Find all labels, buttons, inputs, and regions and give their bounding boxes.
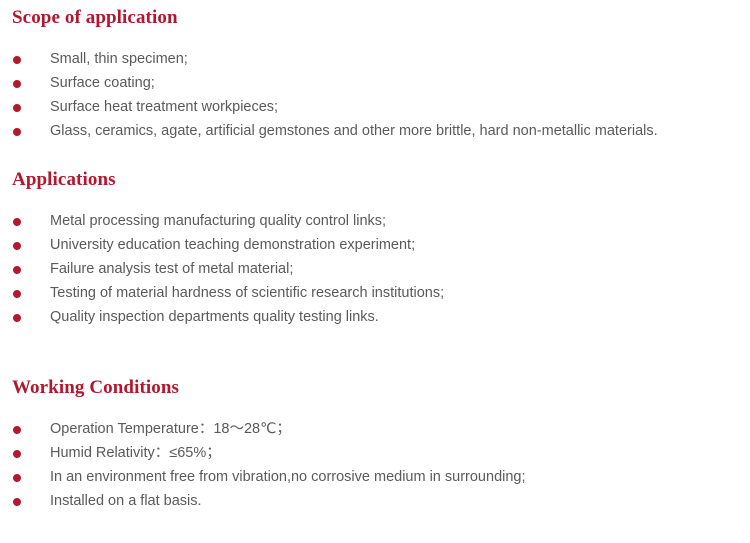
bullet-dot-icon	[13, 242, 21, 250]
bullet-dot-icon	[13, 104, 21, 112]
list-item: Glass, ceramics, agate, artificial gemst…	[0, 119, 658, 143]
list-item-label: Metal processing manufacturing quality c…	[50, 209, 386, 233]
list-item-label: Quality inspection departments quality t…	[50, 305, 379, 329]
list-item: Testing of material hardness of scientif…	[0, 281, 444, 305]
list-item-label: Small, thin specimen;	[50, 47, 188, 71]
bullet-list-working-conditions: Operation Temperature：18～28℃； Humid Rela…	[0, 417, 526, 513]
bullet-dot-icon	[13, 426, 21, 434]
list-item: Surface coating;	[0, 71, 658, 95]
list-item: Failure analysis test of metal material;	[0, 257, 444, 281]
list-item-label: Surface heat treatment workpieces;	[50, 95, 278, 119]
list-item: Surface heat treatment workpieces;	[0, 95, 658, 119]
list-item: Quality inspection departments quality t…	[0, 305, 444, 329]
list-item: Operation Temperature：18～28℃；	[0, 417, 526, 441]
list-item-label: Testing of material hardness of scientif…	[50, 281, 444, 305]
list-item-label: Installed on a flat basis.	[50, 489, 202, 513]
bullet-list-applications: Metal processing manufacturing quality c…	[0, 209, 444, 329]
bullet-dot-icon	[13, 80, 21, 88]
list-item: In an environment free from vibration,no…	[0, 465, 526, 489]
list-item-label: Surface coating;	[50, 71, 155, 95]
bullet-dot-icon	[13, 474, 21, 482]
bullet-dot-icon	[13, 266, 21, 274]
bullet-dot-icon	[13, 498, 21, 506]
list-item-label: In an environment free from vibration,no…	[50, 465, 526, 489]
bullet-dot-icon	[13, 314, 21, 322]
list-item: Metal processing manufacturing quality c…	[0, 209, 444, 233]
bullet-dot-icon	[13, 450, 21, 458]
list-item: Humid Relativity：≤65%；	[0, 441, 526, 465]
section-heading-applications: Applications	[12, 169, 116, 191]
specification-page: Scope of application Small, thin specime…	[0, 0, 750, 543]
bullet-dot-icon	[13, 218, 21, 226]
list-item-label: Humid Relativity：≤65%；	[50, 441, 221, 465]
list-item-label: University education teaching demonstrat…	[50, 233, 415, 257]
section-heading-scope-of-application: Scope of application	[12, 7, 178, 29]
list-item: Small, thin specimen;	[0, 47, 658, 71]
list-item: Installed on a flat basis.	[0, 489, 526, 513]
list-item-label: Glass, ceramics, agate, artificial gemst…	[50, 119, 658, 143]
bullet-list-scope-of-application: Small, thin specimen; Surface coating; S…	[0, 47, 658, 143]
bullet-dot-icon	[13, 290, 21, 298]
list-item-label: Failure analysis test of metal material;	[50, 257, 293, 281]
bullet-dot-icon	[13, 128, 21, 136]
list-item-label: Operation Temperature：18～28℃；	[50, 417, 291, 441]
section-heading-working-conditions: Working Conditions	[12, 377, 179, 399]
bullet-dot-icon	[13, 56, 21, 64]
list-item: University education teaching demonstrat…	[0, 233, 444, 257]
